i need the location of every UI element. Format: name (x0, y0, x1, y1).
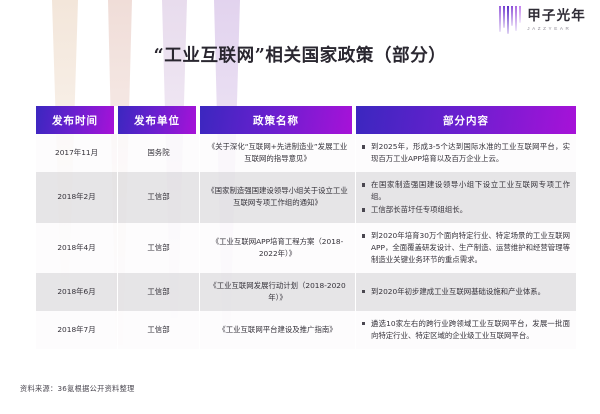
column-header-content: 部分内容 (356, 106, 576, 134)
cell-org: 工信部 (118, 223, 200, 273)
cell-date: 2018年6月 (36, 273, 118, 311)
table-row: 2018年2月 工信部 《国家制造强国建设领导小组关于设立工业互联网专项工作组的… (36, 172, 576, 223)
table-body: 2017年11月 国务院 《关于深化“互联网+先进制造业”发展工业互联网的指导意… (36, 134, 576, 349)
cell-policy: 《工业互联网平台建设及推广指南》 (200, 311, 356, 349)
page-title: “工业互联网”相关国家政策（部分） (0, 42, 600, 67)
cell-content: 到2020年初步建成工业互联网基础设施和产业体系。 (356, 273, 576, 311)
cell-content: 遴选10家左右的跨行业跨领域工业互联网平台，发展一批面向特定行业、特定区域的企业… (356, 311, 576, 349)
content-bullet-list: 遴选10家左右的跨行业跨领域工业互联网平台，发展一批面向特定行业、特定区域的企业… (362, 318, 570, 342)
source-note: 资料来源：36氪根据公开资料整理 (20, 384, 135, 394)
cell-date: 2018年2月 (36, 172, 118, 223)
table-row: 2018年6月 工信部 《工业互联网发展行动计划（2018-2020年）》 到2… (36, 273, 576, 311)
table-header-row: 发布时间 发布单位 政策名称 部分内容 (36, 106, 576, 134)
column-header-date: 发布时间 (36, 106, 118, 134)
content-bullet-list: 到2020年初步建成工业互联网基础设施和产业体系。 (362, 286, 570, 298)
cell-content: 到2025年，形成3-5个达到国际水准的工业互联网平台，实现百万工业APP培育以… (356, 134, 576, 172)
content-bullet: 工信部长苗圩任专项组组长。 (362, 204, 570, 216)
cell-date: 2017年11月 (36, 134, 118, 172)
logo-bars-icon (499, 6, 521, 34)
column-header-policy: 政策名称 (200, 106, 356, 134)
cell-date: 2018年4月 (36, 223, 118, 273)
logo-text: 甲子光年 JAZZYEAR (527, 9, 586, 31)
cell-policy: 《工业互联网APP培育工程方案（2018-2022年）》 (200, 223, 356, 273)
content-bullet-list: 到2025年，形成3-5个达到国际水准的工业互联网平台，实现百万工业APP培育以… (362, 141, 570, 165)
cell-org: 工信部 (118, 311, 200, 349)
content-bullet: 到2020年培育30万个面向特定行业、特定场景的工业互联网APP，全面覆盖研发设… (362, 230, 570, 266)
cell-policy: 《关于深化“互联网+先进制造业”发展工业互联网的指导意见》 (200, 134, 356, 172)
column-header-org: 发布单位 (118, 106, 200, 134)
cell-policy: 《国家制造强国建设领导小组关于设立工业互联网专项工作组的通知》 (200, 172, 356, 223)
cell-policy: 《工业互联网发展行动计划（2018-2020年）》 (200, 273, 356, 311)
cell-org: 国务院 (118, 134, 200, 172)
policy-table-container: 发布时间 发布单位 政策名称 部分内容 2017年11月 国务院 《关于深化“互… (36, 106, 564, 349)
content-bullet-list: 到2020年培育30万个面向特定行业、特定场景的工业互联网APP，全面覆盖研发设… (362, 230, 570, 266)
content-bullet: 到2020年初步建成工业互联网基础设施和产业体系。 (362, 286, 570, 298)
table-header: 发布时间 发布单位 政策名称 部分内容 (36, 106, 576, 134)
policy-table: 发布时间 发布单位 政策名称 部分内容 2017年11月 国务院 《关于深化“互… (36, 106, 576, 349)
cell-content: 在国家制造强国建设领导小组下设立工业互联网专项工作组。 工信部长苗圩任专项组组长… (356, 172, 576, 223)
content-bullet: 遴选10家左右的跨行业跨领域工业互联网平台，发展一批面向特定行业、特定区域的企业… (362, 318, 570, 342)
content-bullet: 到2025年，形成3-5个达到国际水准的工业互联网平台，实现百万工业APP培育以… (362, 141, 570, 165)
table-row: 2018年4月 工信部 《工业互联网APP培育工程方案（2018-2022年）》… (36, 223, 576, 273)
logo-name-cn: 甲子光年 (527, 9, 586, 23)
cell-date: 2018年7月 (36, 311, 118, 349)
cell-org: 工信部 (118, 172, 200, 223)
content-bullet-list: 在国家制造强国建设领导小组下设立工业互联网专项工作组。 工信部长苗圩任专项组组长… (362, 179, 570, 216)
content-bullet: 在国家制造强国建设领导小组下设立工业互联网专项工作组。 (362, 179, 570, 203)
table-row: 2017年11月 国务院 《关于深化“互联网+先进制造业”发展工业互联网的指导意… (36, 134, 576, 172)
cell-content: 到2020年培育30万个面向特定行业、特定场景的工业互联网APP，全面覆盖研发设… (356, 223, 576, 273)
cell-org: 工信部 (118, 273, 200, 311)
brand-logo: 甲子光年 JAZZYEAR (499, 6, 586, 34)
logo-name-en: JAZZYEAR (527, 26, 586, 31)
table-row: 2018年7月 工信部 《工业互联网平台建设及推广指南》 遴选10家左右的跨行业… (36, 311, 576, 349)
